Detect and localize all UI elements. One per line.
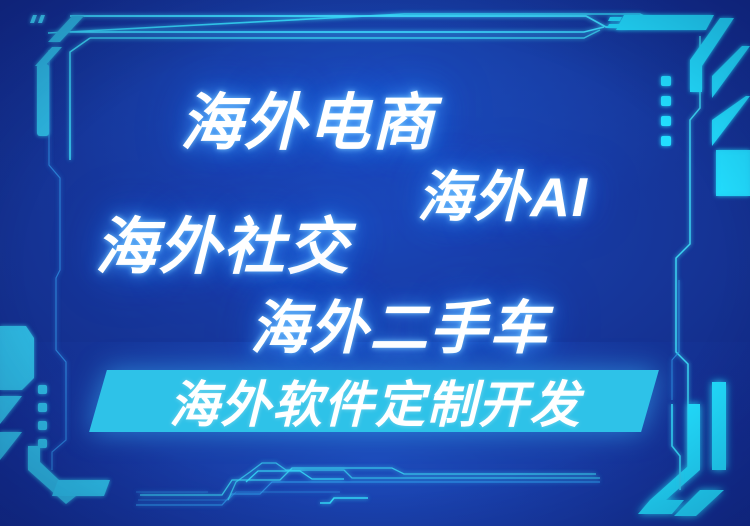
- headline-overseas-used-car: 海外二手车: [250, 281, 549, 365]
- headline-overseas-ecommerce: 海外电商: [180, 72, 435, 162]
- poster-root: 海外电商 海外AI 海外社交 海外二手车 海外软件定制开发: [0, 0, 750, 526]
- headline-overseas-social: 海外社交: [95, 196, 350, 286]
- cta-banner-shape[interactable]: [89, 370, 659, 432]
- headline-group: 海外电商 海外AI 海外社交 海外二手车: [0, 0, 750, 526]
- headline-overseas-ai: 海外AI: [417, 152, 589, 232]
